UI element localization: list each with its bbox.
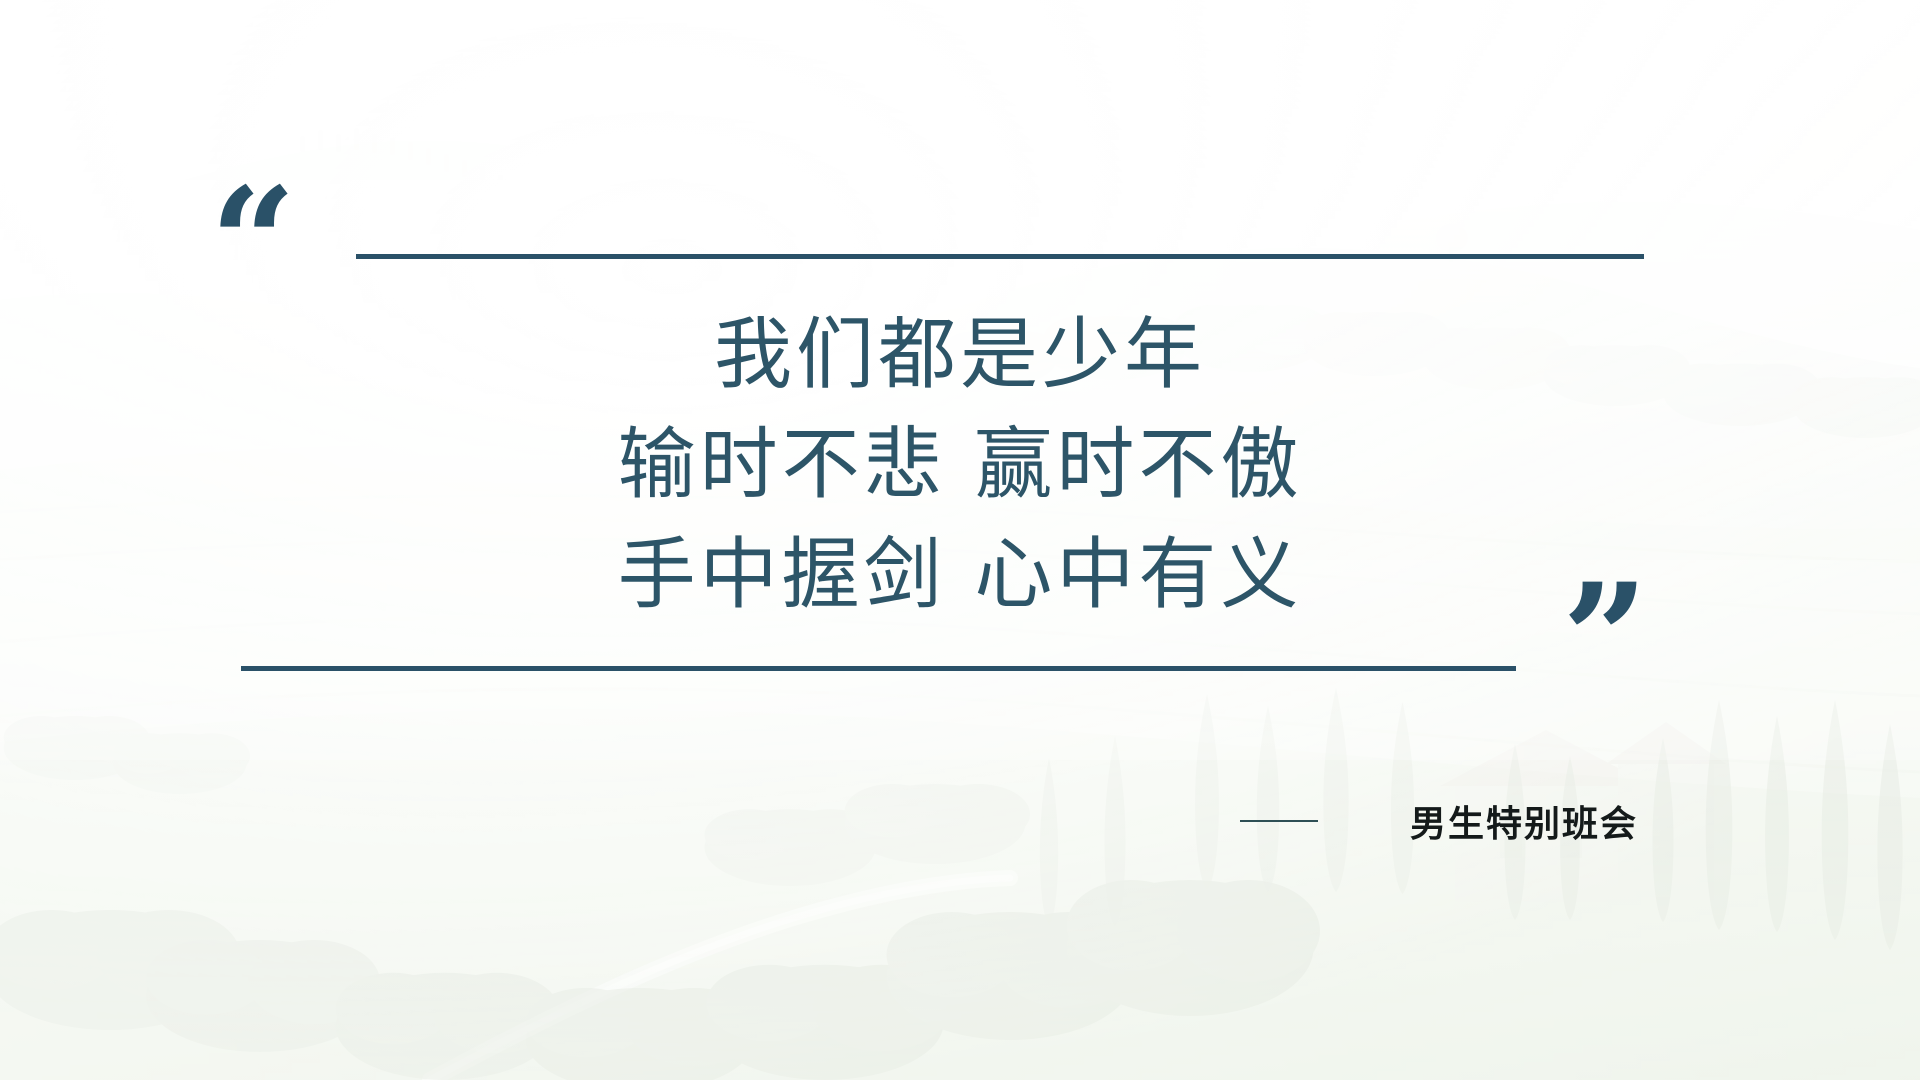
quote-slide: “ 我们都是少年 输时不悲 赢时不傲 手中握剑 心中有义 ” 男生特别班会: [0, 0, 1920, 1080]
opening-quote-icon: “: [210, 168, 292, 318]
quote-line-2: 输时不悲 赢时不傲: [0, 410, 1920, 520]
attribution-dash-icon: [1240, 820, 1318, 822]
attribution-name: 男生特别班会: [1410, 795, 1638, 847]
slide-content: “ 我们都是少年 输时不悲 赢时不傲 手中握剑 心中有义 ” 男生特别班会: [0, 0, 1920, 1080]
quote-line-1: 我们都是少年: [0, 300, 1920, 410]
divider-top: [356, 254, 1644, 259]
divider-bottom: [241, 666, 1516, 671]
attribution: 男生特别班会: [1240, 795, 1638, 847]
closing-quote-icon: ”: [1562, 564, 1644, 714]
